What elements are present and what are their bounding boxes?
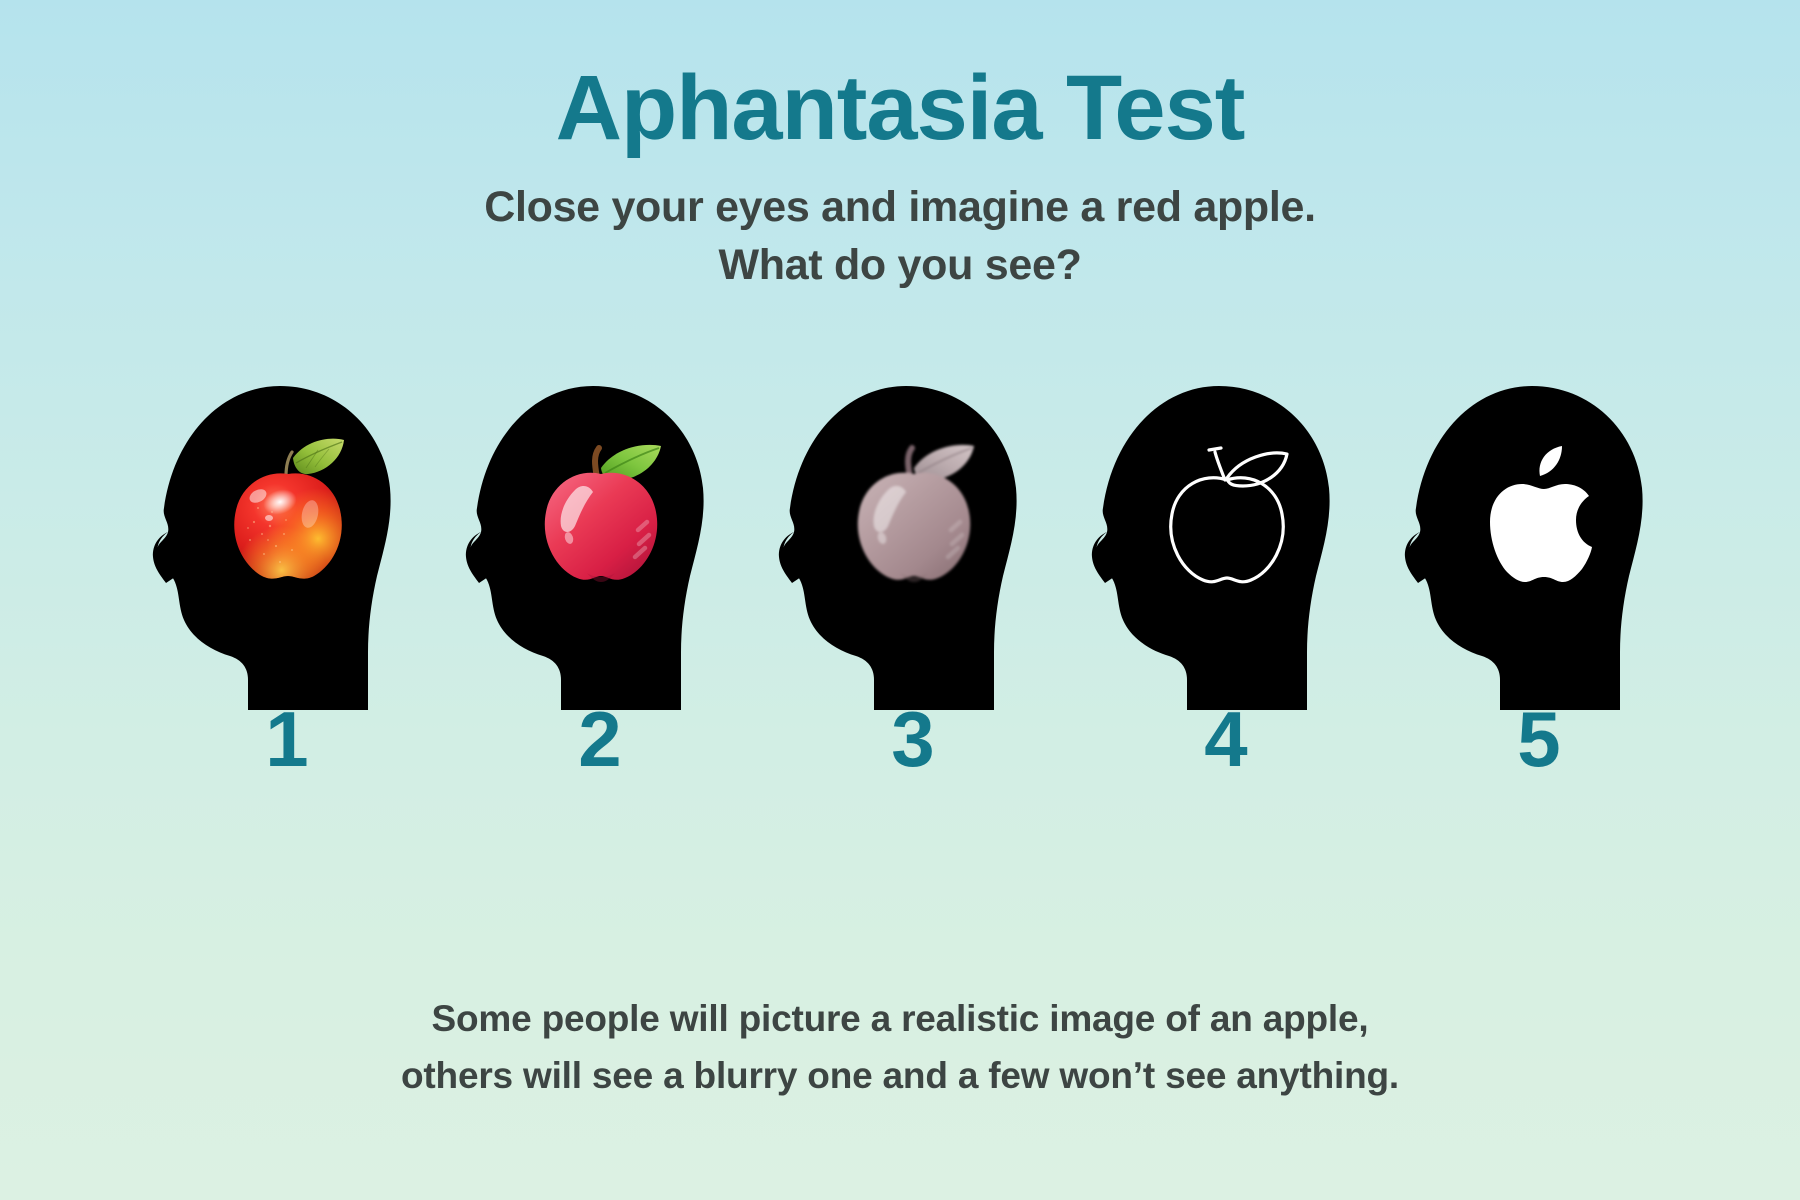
subtitle: Close your eyes and imagine a red apple.… xyxy=(0,178,1800,294)
heads-row xyxy=(0,380,1800,710)
apple-logo-icon xyxy=(1466,430,1614,588)
step-1-head xyxy=(152,380,397,710)
caption-line-1: Some people will picture a realistic ima… xyxy=(0,990,1800,1047)
header: Aphantasia Test Close your eyes and imag… xyxy=(0,62,1800,294)
step-number-cell: 4 xyxy=(1091,700,1336,778)
step-5-head xyxy=(1404,380,1649,710)
apple-outline-icon xyxy=(1153,430,1301,588)
step-number-cell: 5 xyxy=(1404,700,1649,778)
page-title: Aphantasia Test xyxy=(0,62,1800,154)
subtitle-line-1: Close your eyes and imagine a red apple. xyxy=(0,178,1800,236)
step-number-1: 1 xyxy=(239,700,308,778)
caption: Some people will picture a realistic ima… xyxy=(0,990,1800,1105)
step-number-5: 5 xyxy=(1491,700,1560,778)
caption-line-2: others will see a blurry one and a few w… xyxy=(0,1047,1800,1104)
faded-gray-apple-icon xyxy=(840,430,988,588)
apple-outline xyxy=(1153,430,1301,588)
apple-vector-red xyxy=(527,430,675,588)
step-number-4: 4 xyxy=(1178,700,1247,778)
step-3-head xyxy=(778,380,1023,710)
photorealistic-red-apple-icon xyxy=(214,430,362,588)
apple-faded-gray xyxy=(840,430,988,588)
step-4-head xyxy=(1091,380,1336,710)
step-number-cell: 3 xyxy=(778,700,1023,778)
subtitle-line-2: What do you see? xyxy=(0,236,1800,294)
apple-photorealistic xyxy=(214,430,362,588)
step-number-cell: 2 xyxy=(465,700,710,778)
step-number-3: 3 xyxy=(865,700,934,778)
step-number-2: 2 xyxy=(552,700,621,778)
vector-red-apple-icon xyxy=(527,430,675,588)
aphantasia-test-poster: Aphantasia Test Close your eyes and imag… xyxy=(0,0,1800,1200)
apple-logo xyxy=(1466,430,1614,588)
numbers-row: 1 2 3 4 5 xyxy=(0,700,1800,778)
step-2-head xyxy=(465,380,710,710)
step-number-cell: 1 xyxy=(152,700,397,778)
